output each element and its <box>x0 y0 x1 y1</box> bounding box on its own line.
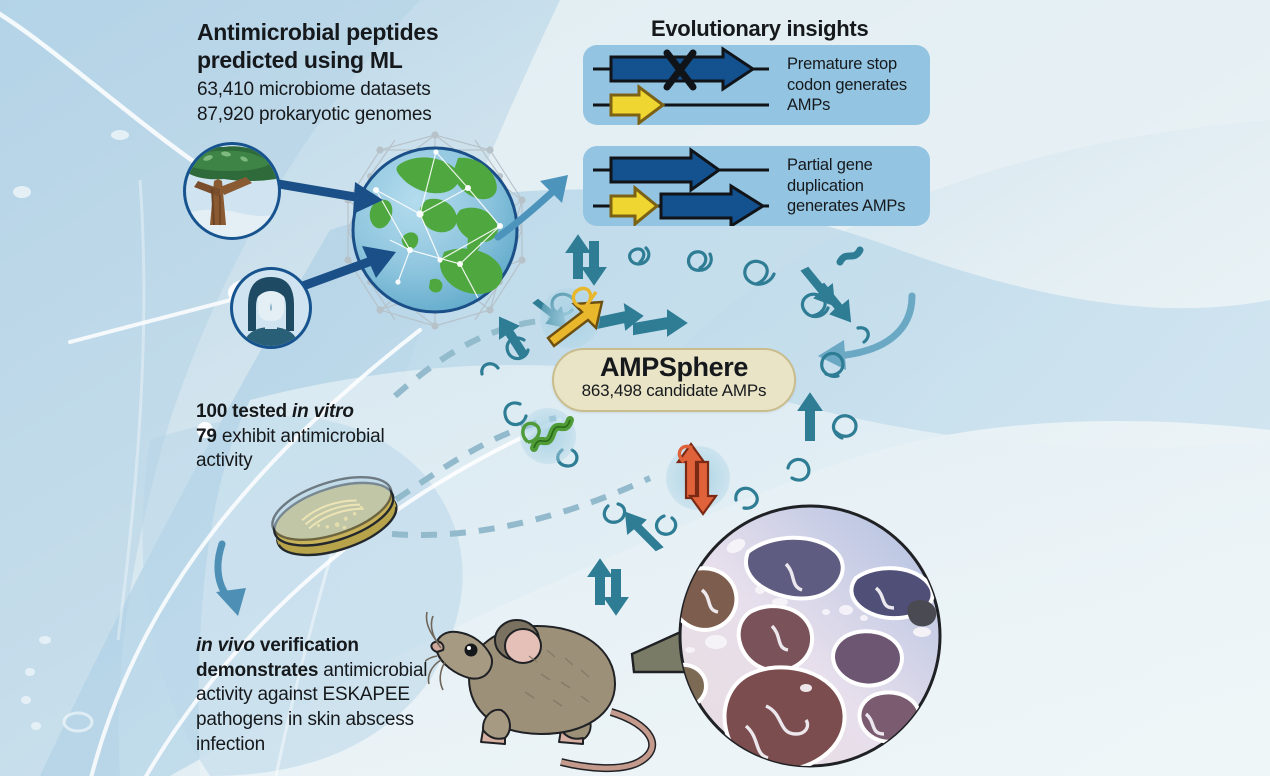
ml-panel-title-line-2: predicted using ML <box>197 46 457 74</box>
ampsphere-name: AMPSphere <box>554 353 794 381</box>
in-vitro-line-2-rest: exhibit antimicrobial <box>222 426 385 447</box>
premature-stop-codon-label: Premature stop codon generates AMPs <box>783 54 907 115</box>
partial-gene-duplication-diagram <box>583 146 783 226</box>
in-vitro-line-1: 100 tested in vitro <box>196 400 431 425</box>
skin-abscess-histology <box>620 490 950 776</box>
in-vivo-italic: in vivo <box>196 635 260 656</box>
label-line: duplication <box>787 176 905 196</box>
in-vivo-line-5: infection <box>196 733 456 758</box>
in-vitro-count: 100 tested <box>196 401 292 422</box>
evolutionary-insight-card-gene-duplication: Partial gene duplication generates AMPs <box>583 146 930 226</box>
label-line: generates AMPs <box>787 196 905 216</box>
in-vivo-line-2: demonstrates antimicrobial <box>196 659 456 684</box>
peptide-highlight-green <box>520 408 576 464</box>
label-line: codon generates <box>787 75 907 95</box>
evolutionary-insight-card-premature-stop: Premature stop codon generates AMPs <box>583 45 930 125</box>
petri-dish-agar <box>263 468 408 568</box>
in-vivo-line-2-rest: antimicrobial <box>323 660 427 681</box>
premature-stop-codon-diagram <box>583 45 783 125</box>
ampsphere-count: 863,498 candidate AMPs <box>554 382 794 401</box>
in-vivo-line-4: pathogens in skin abscess <box>196 708 456 733</box>
ampsphere-label: AMPSphere 863,498 candidate AMPs <box>552 348 796 412</box>
in-vivo-text-block: in vivo verification demonstrates antimi… <box>196 634 456 757</box>
ml-panel-title: Antimicrobial peptides predicted using M… <box>197 18 457 74</box>
in-vitro-active-count: 79 <box>196 426 222 447</box>
peptide-highlight-yellow <box>540 288 602 348</box>
label-line: Partial gene <box>787 155 905 175</box>
ml-panel-title-line-1: Antimicrobial peptides <box>197 18 457 46</box>
ml-stat-genomes: 87,920 prokaryotic genomes <box>197 103 467 128</box>
ml-stat-datasets: 63,410 microbiome datasets <box>197 78 467 103</box>
in-vivo-line-1: in vivo verification <box>196 634 456 659</box>
ml-panel-stats: 63,410 microbiome datasets 87,920 prokar… <box>197 78 467 127</box>
label-line: Premature stop <box>787 54 907 74</box>
partial-gene-duplication-label: Partial gene duplication generates AMPs <box>783 155 905 216</box>
label-line: AMPs <box>787 95 907 115</box>
in-vitro-italic: in vitro <box>292 401 354 422</box>
in-vitro-text-block: 100 tested in vitro 79 exhibit antimicro… <box>196 400 431 474</box>
in-vitro-line-2: 79 exhibit antimicrobial <box>196 425 431 450</box>
in-vivo-verification: verification <box>260 635 359 656</box>
evolutionary-insights-title: Evolutionary insights <box>651 16 868 43</box>
graphical-abstract-canvas: Antimicrobial peptides predicted using M… <box>0 0 1270 776</box>
in-vivo-line-3: activity against ESKAPEE <box>196 683 456 708</box>
in-vivo-demonstrates: demonstrates <box>196 660 323 681</box>
in-vitro-line-3: activity <box>196 449 431 474</box>
